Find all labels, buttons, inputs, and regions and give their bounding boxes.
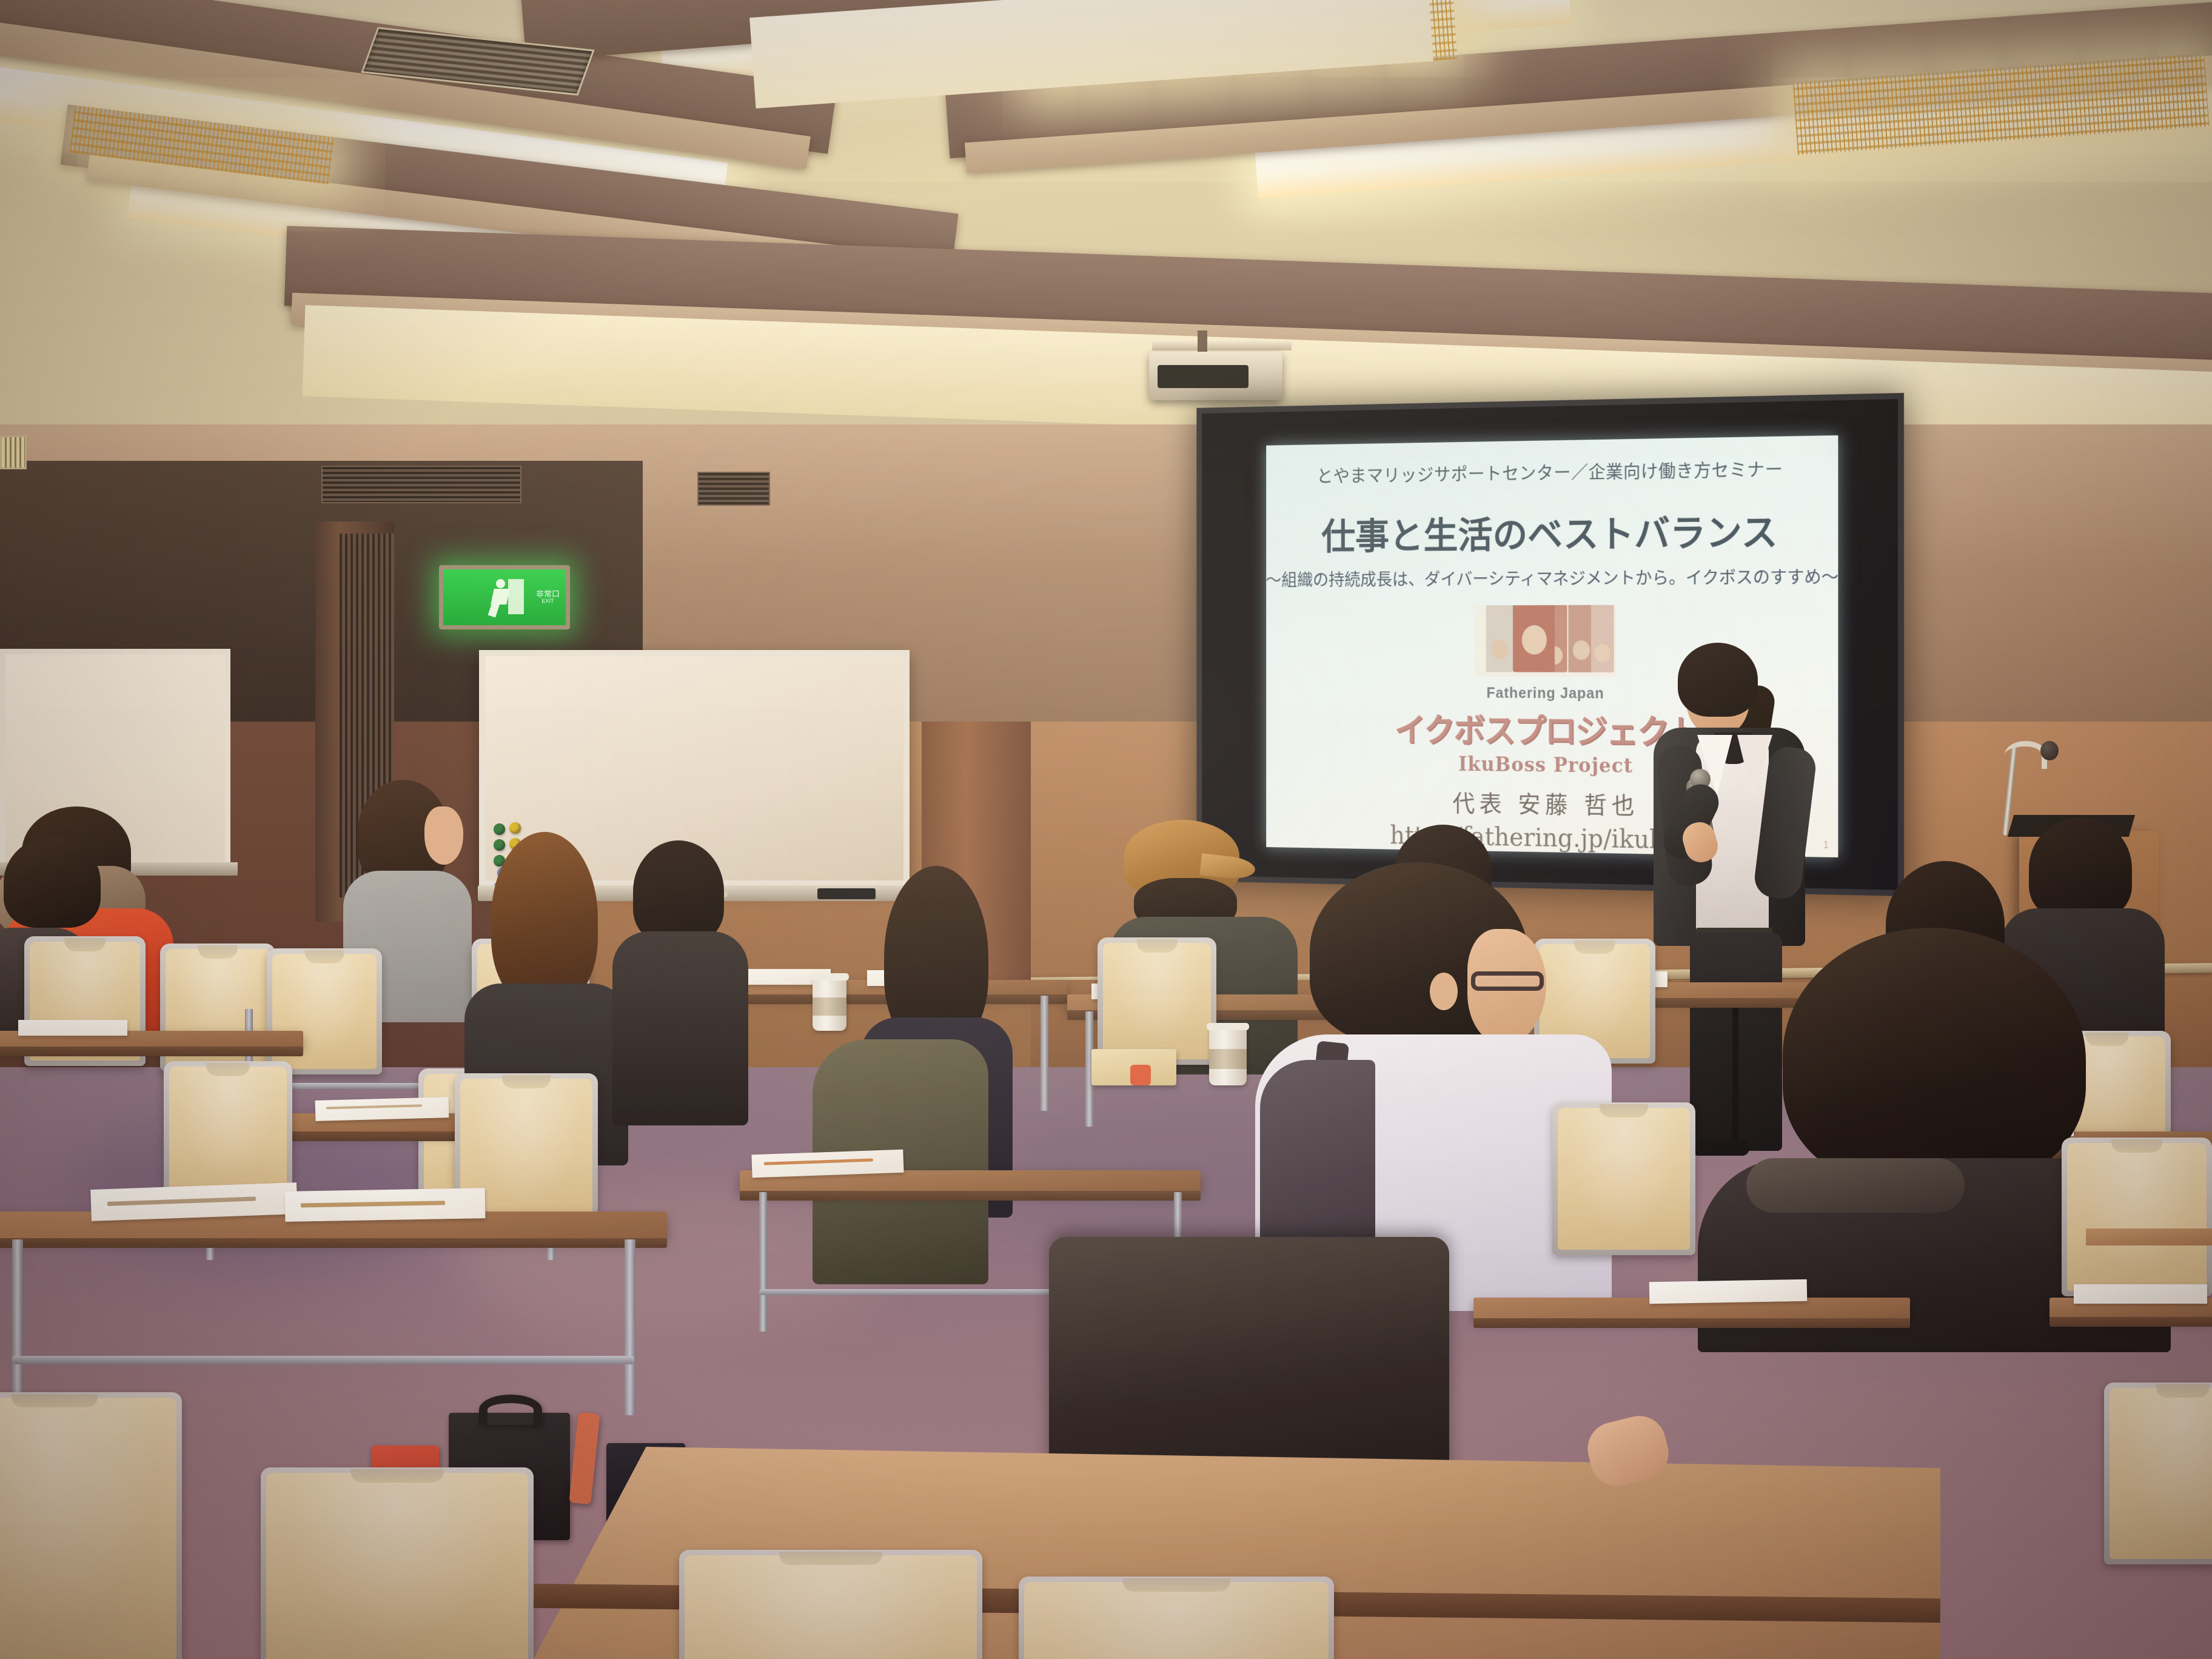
chair-backrest-pad [169,1067,287,1196]
slide-title: 仕事と生活のベストバランス [1321,503,1778,560]
chair-back-notch [305,950,344,964]
exit-sign-label: 非常口 EXIT [536,590,560,605]
emergency-exit-sign: 非常口 EXIT [439,565,570,629]
projector-mount-plate [1152,341,1292,350]
handout-colour-band [326,1104,421,1110]
handout-colour-band [764,1158,873,1165]
chair-back-notch [12,1394,98,1407]
attendee-hair [2029,817,2132,919]
table-leg [1041,996,1048,1111]
slide-org-name-en: Fathering Japan [1486,685,1604,703]
chair[interactable] [164,1061,292,1202]
table-stretcher [12,1356,634,1364]
handout [315,1097,449,1121]
chair-backrest-pad [1558,1108,1690,1250]
photo-figure-head [1522,625,1547,654]
chair[interactable] [679,1550,982,1659]
small-red-object[interactable] [1130,1065,1151,1085]
attendee-hair [633,840,724,942]
photo-figure-head [1595,644,1610,662]
chair[interactable] [2062,1138,2212,1296]
handout [18,1020,127,1036]
table-leg [759,1192,767,1332]
seminar-room-photo: とやまマリッジサポートセンター／企業向け働き方セミナー 仕事と生活のベストバラン… [0,0,2212,1659]
attendee-black-jacket [606,840,752,1125]
hood-fur-collar [1746,1158,1965,1213]
exit-label-jp: 非常口 [536,590,560,598]
gooseneck-microphone-head [2040,741,2059,760]
table-edge [740,1191,1201,1201]
chair-back-notch [206,1063,250,1076]
chair-back-notch [779,1552,882,1565]
slide-representative: 代表 安藤 哲也 [1453,785,1639,821]
photo-figure-head [1573,640,1590,660]
attendee-shoulder-shadow [1260,1060,1375,1242]
attendee-hair [1783,928,2086,1188]
chair-backrest-pad [685,1555,977,1659]
projector-lens [1158,365,1248,388]
ceiling-projector [1149,352,1282,400]
handout [1649,1279,1808,1304]
attendee-olive-coat [813,866,1025,1290]
table-edge [0,1238,667,1248]
wall-air-vent [321,466,521,503]
eyeglasses [1471,971,1544,991]
runner-leg [488,602,500,618]
chair-backrest-pad [1024,1582,1329,1659]
ceiling [0,0,2212,461]
wall-air-vent [697,472,770,506]
cup-lid [810,973,849,980]
cup-sleeve [813,997,846,1016]
attendee-face [424,806,463,865]
chair[interactable] [2104,1382,2212,1564]
chair[interactable] [0,1392,182,1659]
photo-figure [1486,605,1513,672]
chair-back-notch [2111,1139,2162,1153]
chair-back-notch [198,945,238,959]
slide-group-photo [1475,605,1616,677]
chair-back-notch [502,1075,551,1088]
handout [2074,1284,2207,1304]
coffee-cup[interactable] [813,977,846,1031]
chair[interactable] [1019,1577,1334,1659]
handout-colour-band [107,1196,256,1205]
chair-backrest-pad [266,1473,528,1659]
attendee-torso [612,931,748,1125]
table [2086,1228,2212,1245]
chair[interactable] [1552,1102,1695,1255]
bag-handle [479,1395,542,1425]
attendee-hair [4,837,101,928]
running-man-icon [489,578,520,617]
chair-back-notch [1137,939,1178,953]
table-edge [1473,1318,1910,1328]
handout-colour-band [301,1201,445,1207]
attendee-hair [491,832,598,1005]
slide-kicker-text: とやまマリッジサポートセンター／企業向け働き方セミナー [1316,454,1783,487]
chair-back-dark[interactable] [1049,1237,1449,1492]
table-leg [12,1239,23,1415]
chair-back-notch [351,1469,444,1483]
attendee-ear [1430,973,1458,1010]
gooseneck-microphone-curve [2005,741,2047,769]
chair[interactable] [261,1467,534,1659]
chair-backrest-pad [0,1398,176,1659]
photo-figure-head [1491,639,1509,659]
chair-back-notch [64,938,106,951]
chair-backrest-pad [2110,1388,2212,1559]
handout [285,1188,486,1222]
wall-light-panel [0,435,27,469]
table-leg [625,1239,635,1415]
table-edge [2049,1317,2212,1327]
chair-back-notch [2156,1384,2210,1398]
chair-back-notch [1123,1578,1230,1592]
exit-door-shape [508,579,524,614]
slide-logo-en: IkuBoss Project [1458,752,1633,777]
chair-back-notch [1600,1104,1648,1118]
runner-head [496,579,505,588]
chair-backrest-pad [2067,1143,2207,1291]
presenter-hair [1678,643,1758,717]
exit-label-en: EXIT [536,598,560,605]
slide-subtitle: ～組織の持続成長は、ダイバーシティマネジメントから。イクボスのすすめ～ [1265,563,1838,591]
table-edge [0,1047,303,1056]
